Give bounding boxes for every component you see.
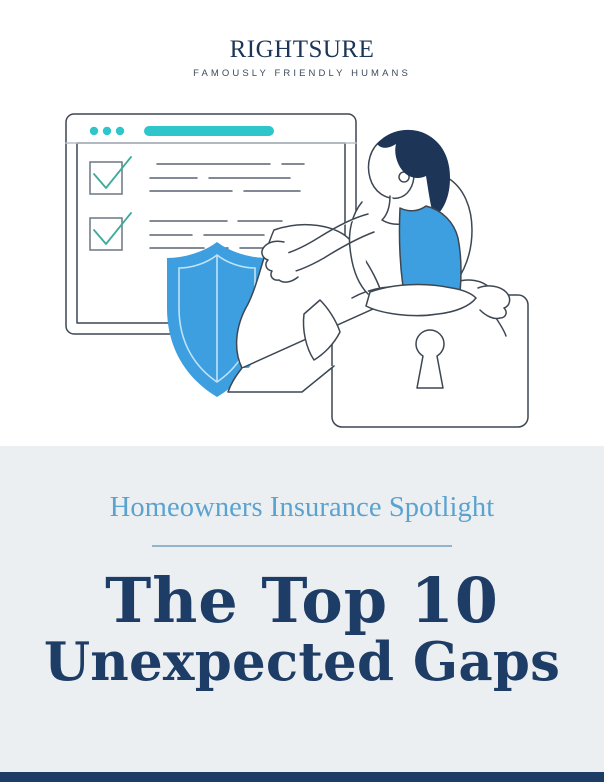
checkbox-checked-2 — [90, 213, 131, 250]
checkbox-checked-1 — [90, 157, 131, 194]
headline-line-2: Unexpected Gaps — [0, 633, 604, 692]
headline-line-1: The Top 10 — [0, 568, 604, 633]
divider — [152, 545, 452, 547]
brand-logo: RightSure FAMOUSLY FRIENDLY HUMANS — [0, 28, 604, 79]
page-title: The Top 10 Unexpected Gaps — [0, 568, 604, 692]
brand-tagline: FAMOUSLY FRIENDLY HUMANS — [0, 68, 604, 79]
panel-subtitle: Homeowners Insurance Spotlight — [0, 492, 604, 524]
title-panel: Homeowners Insurance Spotlight The Top 1… — [0, 446, 604, 772]
brand-name: RightSure — [0, 28, 604, 63]
insurance-checklist-illustration — [52, 92, 552, 442]
footer-bar — [0, 772, 604, 782]
address-bar — [144, 126, 274, 136]
window-dots — [90, 127, 124, 135]
hero-section: RightSure FAMOUSLY FRIENDLY HUMANS — [0, 0, 604, 446]
